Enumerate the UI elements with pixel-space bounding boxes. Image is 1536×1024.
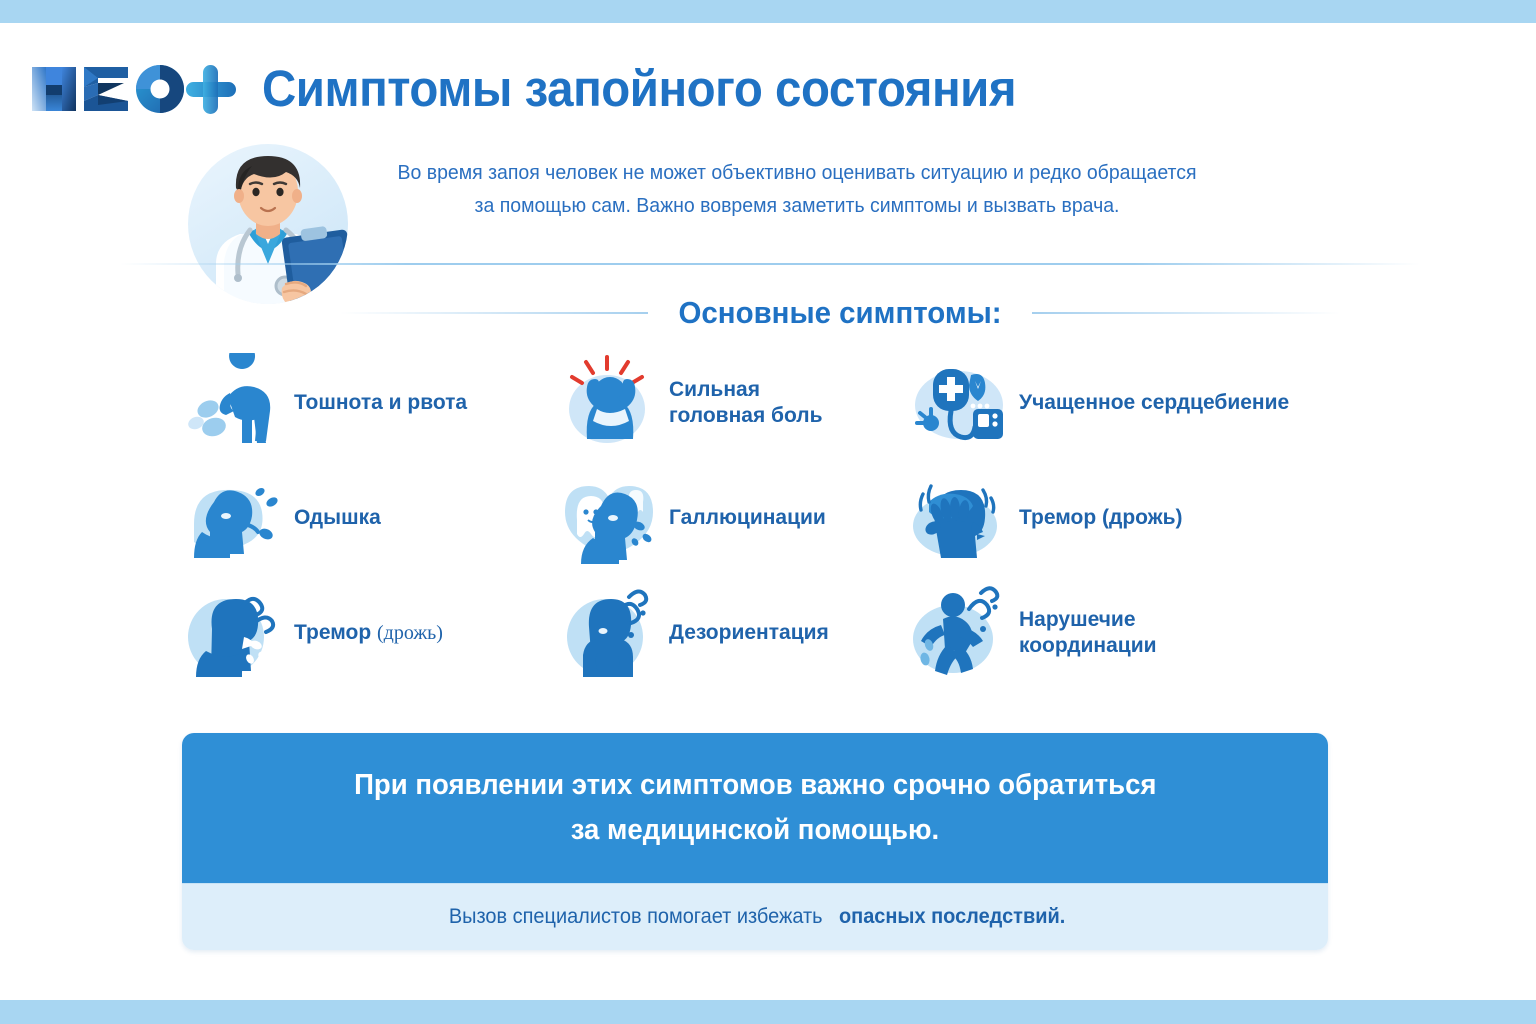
intro-paragraph: Во время запоя человек не может объектив… bbox=[340, 156, 1254, 222]
hallucination-ghost-icon bbox=[555, 468, 665, 568]
symptom-item-tremor-head[interactable]: Тремор (дрожь) bbox=[905, 460, 1340, 575]
symptom-label: Галлюцинации bbox=[669, 505, 826, 531]
symptom-label: Тошнота и рвота bbox=[294, 390, 467, 416]
top-accent-band bbox=[0, 0, 1536, 23]
heading-rule-left bbox=[340, 312, 648, 314]
symptom-item-tremor-sweat[interactable]: Тремор (дрожь) bbox=[180, 575, 555, 690]
symptom-label: Дезориентация bbox=[669, 620, 829, 646]
callout-banner: При появлении этих симптомов важно срочн… bbox=[182, 733, 1328, 950]
intro-line-2: за помощью сам. Важно вовремя заметить с… bbox=[340, 189, 1254, 222]
symptom-item-hallucinations[interactable]: Галлюцинации bbox=[555, 460, 905, 575]
coordination-loss-icon bbox=[905, 583, 1015, 683]
page-title: Симптомы запойного состояния bbox=[262, 59, 1016, 118]
page-header: Симптомы запойного состояния bbox=[0, 23, 1536, 128]
section-heading-text: Основные симптомы: bbox=[678, 295, 1001, 331]
symptom-label: Одышка bbox=[294, 505, 381, 531]
symptom-label-line2: головная боль bbox=[669, 404, 823, 427]
symptom-label: Тремор (дрожь) bbox=[1019, 505, 1183, 531]
symptom-label: Учащенное сердцебиение bbox=[1019, 390, 1289, 416]
symptoms-grid: Тошнота и рвота bbox=[180, 345, 1340, 690]
headache-person-icon bbox=[555, 353, 665, 453]
symptom-label-line2: координации bbox=[1019, 634, 1157, 657]
callout-sub-message: Вызов специалистов помогает избежать опа… bbox=[182, 883, 1328, 950]
symptom-label: Тремор (дрожь) bbox=[294, 620, 443, 646]
tremor-sweating-icon bbox=[180, 583, 290, 683]
intro-line-1: Во время запоя человек не может объектив… bbox=[340, 156, 1254, 189]
symptoms-row: Тремор (дрожь) bbox=[180, 575, 1340, 690]
symptom-item-dyspnea[interactable]: Одышка bbox=[180, 460, 555, 575]
symptom-label-line1: Сильная bbox=[669, 378, 760, 401]
callout-sub-bold: опасных последствий. bbox=[839, 903, 1065, 931]
infographic-page: Симптомы запойного состояния bbox=[0, 0, 1536, 1024]
disorientation-icon bbox=[555, 583, 665, 683]
symptom-item-tachycardia[interactable]: Учащенное сердцебиение bbox=[905, 345, 1340, 460]
symptoms-row: Одышка bbox=[180, 460, 1340, 575]
neo-plus-logo bbox=[28, 61, 240, 117]
symptom-item-disorientation[interactable]: Дезориентация bbox=[555, 575, 905, 690]
section-heading: Основные симптомы: bbox=[340, 292, 1340, 334]
symptom-item-nausea[interactable]: Тошнота и рвота bbox=[180, 345, 555, 460]
doctor-illustration bbox=[182, 138, 354, 310]
symptom-label: Нарушечие координации bbox=[1019, 607, 1157, 659]
symptom-label-bold: Тремор bbox=[294, 621, 377, 644]
bottom-accent-band bbox=[0, 1000, 1536, 1024]
symptom-item-coordination[interactable]: Нарушечие координации bbox=[905, 575, 1340, 690]
shortness-of-breath-icon bbox=[180, 468, 290, 568]
heading-rule-right bbox=[1032, 312, 1340, 314]
intro-divider bbox=[120, 263, 1420, 265]
symptom-item-headache[interactable]: Сильная головная боль bbox=[555, 345, 905, 460]
symptom-label-line1: Нарушечие bbox=[1019, 608, 1136, 631]
symptoms-row: Тошнота и рвота bbox=[180, 345, 1340, 460]
callout-sub-plain: Вызов специалистов помогает избежать bbox=[449, 903, 823, 931]
tremor-head-hands-icon bbox=[905, 468, 1015, 568]
callout-main-line1: При появлении этих симптомов важно срочн… bbox=[354, 763, 1156, 808]
callout-main-message: При появлении этих симптомов важно срочн… bbox=[182, 733, 1328, 883]
vomiting-person-icon bbox=[180, 353, 290, 453]
symptom-label-paren: (дрожь) bbox=[377, 622, 443, 644]
symptom-label: Сильная головная боль bbox=[669, 377, 823, 429]
blood-pressure-monitor-icon bbox=[905, 353, 1015, 453]
callout-main-line2: за медицинской помощью. bbox=[571, 808, 939, 853]
